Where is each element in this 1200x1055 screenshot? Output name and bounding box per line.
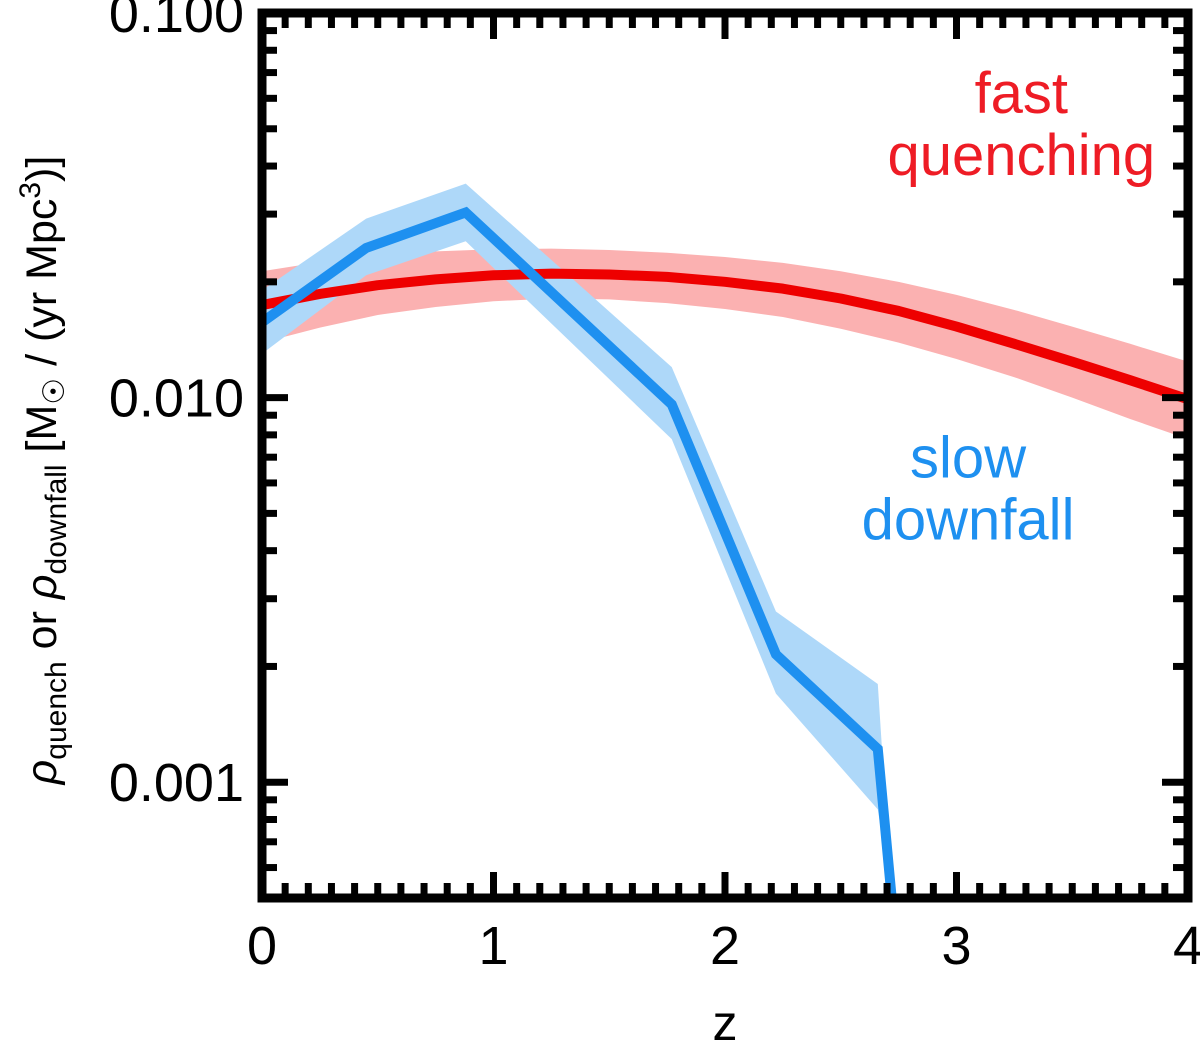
y-axis-exponent: 3 [14,182,47,199]
annotation-fast-quenching-line1: fast [975,61,1069,126]
chart-canvas: 01234 0.1000.0100.001 z ρquench or ρdown… [0,0,1200,1055]
y-tick-label: 0.100 [109,0,244,44]
y-axis-bracket-close: )] [18,156,66,182]
y-axis-conjunction: or [18,599,66,661]
x-tick-label: 1 [478,916,508,976]
x-axis-title: z [713,995,738,1051]
annotation-slow-downfall-line1: slow [910,425,1027,490]
x-tick-label: 4 [1173,916,1200,976]
y-axis-sun-symbol: ☉ [38,378,71,405]
y-axis-units: / (yr Mpc [18,199,66,378]
y-axis-rho-quench: ρ [18,760,66,787]
y-axis-sub-downfall: downfall [40,464,73,574]
figure-container: 01234 0.1000.0100.001 z ρquench or ρdown… [0,0,1200,1055]
x-tick-label: 2 [710,916,740,976]
x-tick-label: 0 [247,916,277,976]
y-tick-label: 0.010 [109,369,244,429]
x-tick-label: 3 [941,916,971,976]
y-tick-label: 0.001 [109,753,244,813]
y-axis-sub-quench: quench [40,661,73,759]
y-axis-bracket-open: [M [18,405,66,465]
y-axis-rho-downfall: ρ [18,574,66,601]
annotation-fast-quenching-line2: quenching [887,123,1155,188]
annotation-slow-downfall-line2: downfall [862,487,1075,552]
